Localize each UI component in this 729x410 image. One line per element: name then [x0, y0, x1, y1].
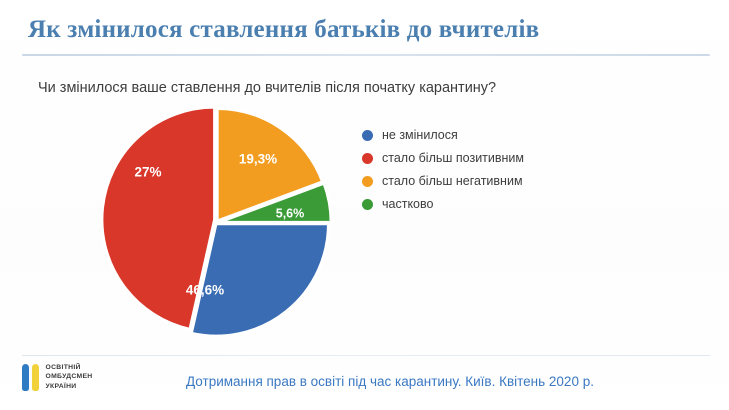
- legend-label: стало більш позитивним: [382, 151, 524, 165]
- chart-legend: не змінилося стало більш позитивним стал…: [362, 128, 524, 211]
- pie-label-positive: 27%: [134, 165, 161, 180]
- legend-item-positive[interactable]: стало більш позитивним: [362, 151, 524, 165]
- pie-chart: 19,3% 5,6% 46,6% 27%: [100, 105, 332, 337]
- pie-slice-unchanged[interactable]: [191, 224, 328, 336]
- chart-question: Чи змінилося ваше ставлення до вчителів …: [38, 80, 496, 96]
- legend-item-partial[interactable]: частково: [362, 197, 524, 211]
- logo-line-1: ОСВІТНІЙ: [46, 364, 93, 372]
- pie-label-partial: 5,6%: [276, 206, 305, 220]
- legend-swatch-icon: [362, 176, 373, 187]
- legend-swatch-icon: [362, 153, 373, 164]
- logo-text: ОСВІТНІЙ ОМБУДСМЕН УКРАЇНИ: [46, 364, 93, 391]
- organization-logo: ОСВІТНІЙ ОМБУДСМЕН УКРАЇНИ: [22, 364, 93, 391]
- logo-mark-icon: [22, 364, 39, 391]
- pie-chart-svg: 19,3% 5,6% 46,6% 27%: [100, 105, 332, 337]
- chart-area: 19,3% 5,6% 46,6% 27% не змінилося стало …: [0, 100, 729, 350]
- logo-line-3: УКРАЇНИ: [46, 383, 93, 391]
- legend-label: не змінилося: [382, 128, 458, 142]
- footer-note: Дотримання прав в освіті під час каранти…: [186, 374, 594, 389]
- pie-label-negative: 19,3%: [239, 152, 277, 167]
- legend-swatch-icon: [362, 130, 373, 141]
- page-title: Як змінилося ставлення батьків до вчител…: [28, 16, 539, 44]
- pie-label-unchanged: 46,6%: [186, 283, 224, 298]
- legend-item-unchanged[interactable]: не змінилося: [362, 128, 524, 142]
- legend-label: частково: [382, 197, 433, 211]
- slide-canvas: Як змінилося ставлення батьків до вчител…: [0, 0, 729, 410]
- footer: ОСВІТНІЙ ОМБУДСМЕН УКРАЇНИ Дотримання пр…: [0, 356, 729, 410]
- legend-item-negative[interactable]: стало більш негативним: [362, 174, 524, 188]
- logo-line-2: ОМБУДСМЕН: [46, 373, 93, 381]
- title-divider: [22, 54, 710, 56]
- legend-label: стало більш негативним: [382, 174, 523, 188]
- legend-swatch-icon: [362, 199, 373, 210]
